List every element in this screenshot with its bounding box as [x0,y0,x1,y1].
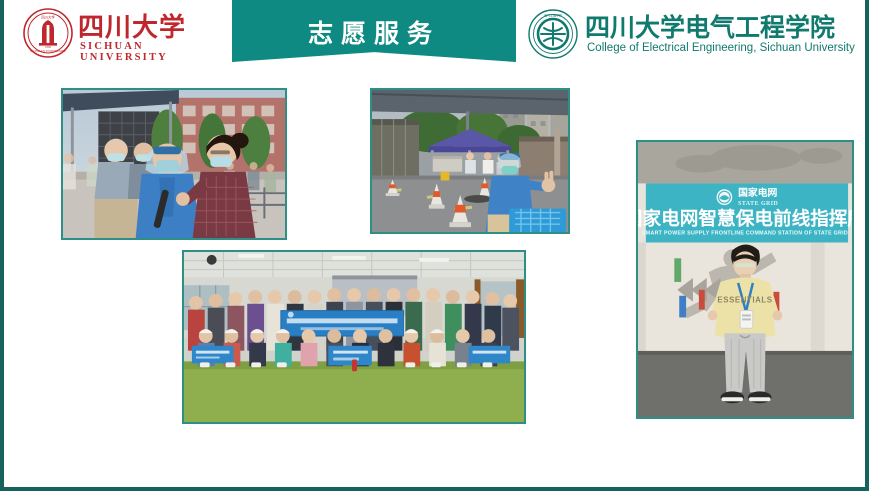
shirt-graphic-text: ESSENTIALS [717,296,772,305]
svg-text:SMART POWER SUPPLY FRONTLINE C: SMART POWER SUPPLY FRONTLINE COMMAND STA… [642,231,848,237]
sichuan-university-seal-icon: SICHUAN UNIVERSITY 四川大学 1896 [22,7,74,59]
slide-canvas: SICHUAN UNIVERSITY 四川大学 1896 四川大学 SICHUA… [0,0,869,491]
sichuan-university-logo: SICHUAN UNIVERSITY 四川大学 1896 四川大学 SICHUA… [22,5,222,63]
sichuan-university-name-cn: 四川大学 [78,7,186,44]
svg-text:国家电网智慧保电前线指挥所: 国家电网智慧保电前线指挥所 [638,208,852,230]
svg-text:电气工程学院: 电气工程学院 [544,13,562,18]
college-name-en: College of Electrical Engineering, Sichu… [587,42,855,54]
college-logo: 电气工程学院 四川大学电气工程学院 College of Electrical … [527,5,859,65]
svg-text:国家电网: 国家电网 [738,186,777,199]
college-of-electrical-engineering-seal-icon: 电气工程学院 [527,8,579,60]
photo-covid-street [370,88,570,234]
svg-text:1896: 1896 [45,45,52,49]
photo-stategrid: 国家电网 STATE GRID 国家电网智慧保电前线指挥所 SMART POWE… [636,140,854,419]
sichuan-university-name-en: SICHUAN UNIVERSITY [80,41,222,63]
svg-text:四川大学: 四川大学 [41,15,55,20]
svg-text:STATE GRID: STATE GRID [738,201,778,207]
svg-text:SICHUAN UNIVERSITY: SICHUAN UNIVERSITY [30,49,67,53]
college-name-cn: 四川大学电气工程学院 [585,8,835,44]
photo-covid-queue [61,88,287,240]
section-title-ribbon: 志愿服务 [232,0,516,62]
section-title-text: 志愿服务 [232,14,516,50]
slide-header: SICHUAN UNIVERSITY 四川大学 1896 四川大学 SICHUA… [4,0,865,72]
photo-group [182,250,526,424]
